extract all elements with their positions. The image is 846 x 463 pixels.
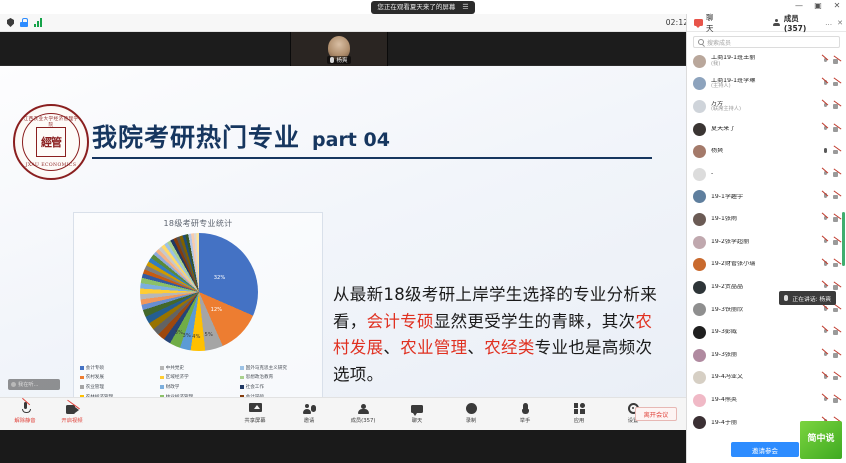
video-tile-active-speaker[interactable]: 杨爽 xyxy=(291,32,387,66)
participant-name: 夏天来了 xyxy=(711,126,817,132)
camera-off-icon[interactable] xyxy=(833,103,841,109)
mic-off-icon[interactable] xyxy=(822,261,828,268)
list-item[interactable]: 杨爽 xyxy=(687,140,846,163)
invite-participants-button[interactable]: 邀请参会 xyxy=(731,442,799,457)
analysis-highlight: 农业管理 xyxy=(400,338,467,357)
zoom-meeting-window: 您正在观看夏天来了的屏幕 ☰ — ▣ ✕ 02:12:45 演讲者视图 ▾ xyxy=(0,0,846,463)
list-item[interactable]: 19-1张雨 xyxy=(687,208,846,231)
analysis-text: 、 xyxy=(467,338,484,357)
participant-name: 19-2贾晶晶 xyxy=(711,284,817,290)
mic-off-icon[interactable] xyxy=(822,58,828,65)
legend-label: 农村发展 xyxy=(86,374,104,380)
legend-swatch xyxy=(240,385,244,389)
tab-chat[interactable]: 聊天 xyxy=(690,12,725,34)
invite-label: 邀请 xyxy=(304,416,315,424)
meeting-bottom-toolbar: 我在听... 解除静音 开启视频 共享屏幕 邀请 xyxy=(0,397,686,430)
participant-actions xyxy=(822,171,841,178)
participant-role: (联席主持人) xyxy=(711,107,817,112)
pie-slice-label: 3% xyxy=(175,330,183,336)
participant-name-block: 19-2张李超丽 xyxy=(711,239,817,245)
participant-actions xyxy=(822,261,841,268)
participant-actions xyxy=(822,329,841,336)
analysis-highlight: 农经类 xyxy=(484,338,534,357)
self-status-chip: 我在听... xyxy=(8,379,60,390)
mic-off-icon[interactable] xyxy=(822,239,828,246)
pie-slice-label: 3% xyxy=(183,333,191,339)
chat-bubble-icon xyxy=(694,19,703,26)
avatar xyxy=(693,77,706,90)
unmute-label: 解除静音 xyxy=(14,416,35,424)
chat-icon xyxy=(411,405,423,414)
apps-icon xyxy=(574,403,585,414)
participant-name-block: 夏天来了 xyxy=(711,126,817,132)
avatar xyxy=(693,100,706,113)
list-item[interactable]: 19-2张李超丽 xyxy=(687,231,846,254)
analysis-text: 显然更受学生的青睐，其次 xyxy=(434,312,636,331)
participant-actions xyxy=(822,103,841,110)
camera-off-icon[interactable] xyxy=(833,329,841,335)
tab-participants[interactable]: 成员(357) xyxy=(769,13,825,33)
participant-name: 19-3铁丽欣 xyxy=(711,307,817,313)
mic-off-icon xyxy=(22,402,29,414)
legend-item: 农业管理 xyxy=(80,382,158,392)
camera-off-icon[interactable] xyxy=(833,352,841,358)
people-icon xyxy=(773,19,781,27)
participant-list[interactable]: 工商19-1班王丽(我)工商19-1班李琳(主持人)方芳(联席主持人)夏天来了杨… xyxy=(687,50,846,430)
participant-name: 19-3彭威 xyxy=(711,329,817,335)
mic-off-icon[interactable] xyxy=(822,193,828,200)
search-placeholder: 搜索成员 xyxy=(707,38,731,47)
participants-button[interactable]: 成员(357) xyxy=(346,401,380,424)
camera-off-icon[interactable] xyxy=(833,284,841,290)
participant-actions xyxy=(822,193,841,200)
video-tile-label: 杨爽 xyxy=(327,56,350,64)
seal-bottom-text: JXAU ECONOMICS xyxy=(23,163,79,168)
avatar xyxy=(693,326,706,339)
participants-icon xyxy=(358,404,369,414)
chat-label: 聊天 xyxy=(412,416,423,424)
pie-slice-label: 5% xyxy=(205,332,213,338)
search-input[interactable]: 搜索成员 xyxy=(693,36,840,48)
participant-name-block: 19-1张雨 xyxy=(711,216,817,222)
participant-actions xyxy=(822,239,841,246)
participant-name: 19-2张李超丽 xyxy=(711,239,817,245)
self-status-text: 我在听... xyxy=(18,381,39,388)
camera-off-icon[interactable] xyxy=(833,262,841,268)
bottom-left-controls: 解除静音 开启视频 xyxy=(8,401,89,424)
mic-off-icon[interactable] xyxy=(822,216,828,223)
analysis-highlight: 会计专硕 xyxy=(367,312,434,331)
participant-actions xyxy=(822,58,841,65)
participant-name-block: 工商19-1班李琳(主持人) xyxy=(711,78,817,90)
list-item[interactable]: 19-3张丽 xyxy=(687,344,846,367)
mic-off-icon[interactable] xyxy=(822,103,828,110)
legend-label: 国外马克思主义研究 xyxy=(246,365,287,371)
participant-actions xyxy=(822,126,841,133)
participant-name-block: 19-3铁丽欣 xyxy=(711,307,817,313)
participant-role: (主持人) xyxy=(711,84,817,89)
participant-name: 19-1李趣宇 xyxy=(711,194,817,200)
participant-name: 19-2财管张小瑞 xyxy=(711,261,817,267)
camera-off-icon[interactable] xyxy=(833,58,841,64)
mic-off-icon[interactable] xyxy=(822,80,828,87)
invite-icon xyxy=(303,404,316,414)
legend-item: 思想政治教育 xyxy=(240,373,318,383)
camera-off-icon[interactable] xyxy=(833,171,841,177)
search-icon xyxy=(698,39,704,45)
avatar xyxy=(693,145,706,158)
speaking-tooltip: 正在讲话: 杨爽 xyxy=(779,291,836,305)
participant-role: (我) xyxy=(711,62,817,67)
participant-name-block: 方芳(联席主持人) xyxy=(711,101,817,113)
participant-name-block: 19-3张丽 xyxy=(711,352,817,358)
participant-actions xyxy=(822,397,841,404)
legend-swatch xyxy=(240,366,244,370)
avatar xyxy=(693,258,706,271)
seal-top-text: 江西农业大学经济管理学院 xyxy=(23,116,79,128)
mic-off-icon[interactable] xyxy=(822,352,828,359)
start-video-label: 开启视频 xyxy=(61,416,82,424)
participant-name: - xyxy=(711,171,817,177)
top-toolbar-left xyxy=(0,18,42,27)
mic-off-icon[interactable] xyxy=(822,171,828,178)
tab-chat-label: 聊天 xyxy=(706,12,721,34)
camera-off-icon[interactable] xyxy=(833,397,841,403)
unmute-button[interactable]: 解除静音 xyxy=(8,401,42,424)
participant-name-block: 19-2财管张小瑞 xyxy=(711,261,817,267)
camera-off-icon[interactable] xyxy=(833,126,841,132)
legend-item: 中共党史 xyxy=(160,363,238,373)
record-label: 录制 xyxy=(466,416,477,424)
record-icon xyxy=(466,403,477,414)
avatar xyxy=(693,168,706,181)
avatar xyxy=(693,416,706,429)
participant-name: 19-1张雨 xyxy=(711,216,817,222)
screen-share-notice: 您正在观看夏天来了的屏幕 ☰ xyxy=(371,1,474,14)
participant-name: 19-3张丽 xyxy=(711,352,817,358)
legend-label: 社会工作 xyxy=(246,384,264,390)
mic-on-icon[interactable] xyxy=(822,148,828,155)
shared-slide: 江西农业大学经济管理学院 經管 JXAU ECONOMICS 我院考研热门专业 … xyxy=(0,66,686,430)
participant-actions xyxy=(822,352,841,359)
participant-actions xyxy=(822,306,841,313)
minimize-button[interactable]: — xyxy=(794,1,804,10)
screen-share-notice-text: 您正在观看夏天来了的屏幕 xyxy=(377,4,455,11)
panel-window-controls: … ✕ xyxy=(825,19,843,27)
participant-name: 杨爽 xyxy=(711,148,817,154)
legend-label: 区域经济学 xyxy=(166,374,189,380)
participant-name-block: - xyxy=(711,171,817,177)
legend-label: 会计专硕 xyxy=(86,365,104,371)
maximize-button[interactable]: ▣ xyxy=(813,1,823,10)
avatar xyxy=(693,394,706,407)
panel-more-button[interactable]: … xyxy=(825,19,832,27)
mic-off-icon[interactable] xyxy=(822,397,828,404)
list-item[interactable]: 19-1李趣宇 xyxy=(687,186,846,209)
list-item[interactable]: 19-2财管张小瑞 xyxy=(687,253,846,276)
mic-off-icon[interactable] xyxy=(822,329,828,336)
legend-label: 中共党史 xyxy=(166,365,184,371)
apps-label: 应用 xyxy=(574,416,585,424)
watermark-logo: 简中说 xyxy=(800,421,842,459)
participant-actions xyxy=(822,216,841,223)
participant-name-block: 19-4熊英 xyxy=(711,397,817,403)
legend-item: 区域经济学 xyxy=(160,373,238,383)
title-underline xyxy=(92,157,652,159)
participant-name-block: 19-3彭威 xyxy=(711,329,817,335)
participant-actions xyxy=(822,284,841,291)
list-item[interactable]: 19-4熊英 xyxy=(687,389,846,412)
speaking-tooltip-text: 正在讲话: 杨爽 xyxy=(792,294,831,303)
participant-name-block: 19-1李趣宇 xyxy=(711,194,817,200)
avatar xyxy=(693,303,706,316)
slide-part-label: part 04 xyxy=(312,129,390,151)
slide-analysis-text: 从最新18级考研上岸学生选择的专业分析来看，会计专硕显然更受学生的青睐，其次农村… xyxy=(333,282,663,389)
list-item[interactable]: 工商19-1班李琳(主持人) xyxy=(687,73,846,96)
mic-off-icon[interactable] xyxy=(822,284,828,291)
share-screen-icon xyxy=(249,403,262,414)
chat-button[interactable]: 聊天 xyxy=(400,401,434,424)
share-screen-button[interactable]: 共享屏幕 xyxy=(238,401,272,424)
participants-label: 成员(357) xyxy=(351,416,376,424)
participant-name-block: 工商19-1班王丽(我) xyxy=(711,55,817,67)
mic-on-icon xyxy=(784,295,788,301)
camera-off-icon xyxy=(66,405,79,414)
camera-off-icon[interactable] xyxy=(833,194,841,200)
legend-swatch xyxy=(80,385,84,389)
camera-off-icon[interactable] xyxy=(833,239,841,245)
mic-off-icon[interactable] xyxy=(822,374,828,381)
participant-actions xyxy=(822,148,841,155)
camera-off-icon[interactable] xyxy=(833,149,841,155)
bottom-mid-controls: 共享屏幕 邀请 成员(357) 聊天 录制 xyxy=(238,401,650,424)
raise-hand-label: 举手 xyxy=(520,416,531,424)
legend-label: 农业管理 xyxy=(86,384,104,390)
avatar xyxy=(693,236,706,249)
list-item[interactable]: 方芳(联席主持人) xyxy=(687,95,846,118)
start-video-button[interactable]: 开启视频 xyxy=(55,401,89,424)
panel-scrollbar[interactable] xyxy=(842,212,845,266)
record-button[interactable]: 录制 xyxy=(454,401,488,424)
page-title: 我院考研热门专业 xyxy=(92,118,300,154)
camera-off-icon[interactable] xyxy=(833,81,841,87)
mic-off-icon[interactable] xyxy=(822,306,828,313)
list-item[interactable]: 工商19-1班王丽(我) xyxy=(687,50,846,73)
legend-item: 农村发展 xyxy=(80,373,158,383)
slide-title-block: 我院考研热门专业 part 04 xyxy=(92,118,652,159)
participant-name: 19-4熊英 xyxy=(711,397,817,403)
pie-chart-area: 32%12%5%4%3%3% xyxy=(74,229,324,357)
avatar xyxy=(693,55,706,68)
meeting-stage: 杨爽 ▲ 江西农业大学经济管理学院 經管 JXAU ECONOMICS 我院考研… xyxy=(0,32,686,430)
legend-swatch xyxy=(240,376,244,380)
avatar xyxy=(693,213,706,226)
panel-search-area: 搜索成员 xyxy=(687,32,846,51)
video-tile-name: 杨爽 xyxy=(336,56,347,64)
legend-swatch xyxy=(160,385,164,389)
legend-label: 财政学 xyxy=(166,384,180,390)
participant-name-block: 19-4冯亚文 xyxy=(711,374,817,380)
legend-item: 国外马克思主义研究 xyxy=(240,363,318,373)
mic-off-icon[interactable] xyxy=(822,126,828,133)
shield-icon[interactable] xyxy=(7,18,14,27)
pie-slice-label: 4% xyxy=(192,334,200,340)
leave-meeting-button[interactable]: 离开会议 xyxy=(635,407,677,421)
apps-button[interactable]: 应用 xyxy=(562,401,596,424)
legend-item: 社会工作 xyxy=(240,382,318,392)
legend-swatch xyxy=(80,376,84,380)
video-thumbnail-strip: 杨爽 xyxy=(0,32,686,66)
share-screen-label: 共享屏幕 xyxy=(244,416,265,424)
mic-on-icon xyxy=(330,57,334,63)
legend-swatch xyxy=(160,366,164,370)
pie-slice-label: 12% xyxy=(211,307,223,313)
camera-off-icon[interactable] xyxy=(833,307,841,313)
raise-hand-button[interactable]: 举手 xyxy=(508,401,542,424)
camera-off-icon[interactable] xyxy=(833,375,841,381)
pie-slice-label: 32% xyxy=(214,275,226,281)
invite-button[interactable]: 邀请 xyxy=(292,401,326,424)
list-item[interactable]: - xyxy=(687,163,846,186)
list-item[interactable]: 夏天来了 xyxy=(687,118,846,141)
list-item[interactable]: 19-3彭威 xyxy=(687,321,846,344)
avatar xyxy=(693,281,706,294)
lock-icon[interactable] xyxy=(20,18,28,27)
participant-name: 19-4冯亚文 xyxy=(711,374,817,380)
chart-title: 18级考研专业统计 xyxy=(74,213,322,229)
participant-actions xyxy=(822,80,841,87)
legend-item: 会计专硕 xyxy=(80,363,158,373)
list-item[interactable]: 19-4冯亚文 xyxy=(687,366,846,389)
window-controls: — ▣ ✕ xyxy=(794,1,842,10)
seal-core-text: 經管 xyxy=(36,127,66,157)
legend-swatch xyxy=(80,366,84,370)
panel-tab-bar: 聊天 成员(357) … ✕ xyxy=(687,14,846,32)
avatar xyxy=(693,349,706,362)
panel-close-button[interactable]: ✕ xyxy=(837,19,843,27)
university-seal-logo: 江西农业大学经济管理学院 經管 JXAU ECONOMICS xyxy=(13,104,89,180)
raise-hand-icon xyxy=(522,403,529,414)
avatar xyxy=(693,190,706,203)
legend-label: 思想政治教育 xyxy=(246,374,274,380)
avatar xyxy=(693,371,706,384)
camera-off-icon[interactable] xyxy=(833,216,841,222)
tab-participants-label: 成员(357) xyxy=(784,13,821,33)
participants-panel: 聊天 成员(357) … ✕ 搜索成员 工商19-1班王丽(我)工商19-1班李… xyxy=(686,14,846,463)
legend-swatch xyxy=(160,376,164,380)
participant-name-block: 杨爽 xyxy=(711,148,817,154)
hamburger-icon[interactable]: ☰ xyxy=(462,4,468,11)
close-button[interactable]: ✕ xyxy=(832,1,842,10)
signal-bars-icon[interactable] xyxy=(34,18,42,27)
analysis-text: 、 xyxy=(383,338,400,357)
legend-item: 财政学 xyxy=(160,382,238,392)
participant-name-block: 19-2贾晶晶 xyxy=(711,284,817,290)
participant-actions xyxy=(822,374,841,381)
avatar xyxy=(693,123,706,136)
avatar xyxy=(11,382,16,387)
